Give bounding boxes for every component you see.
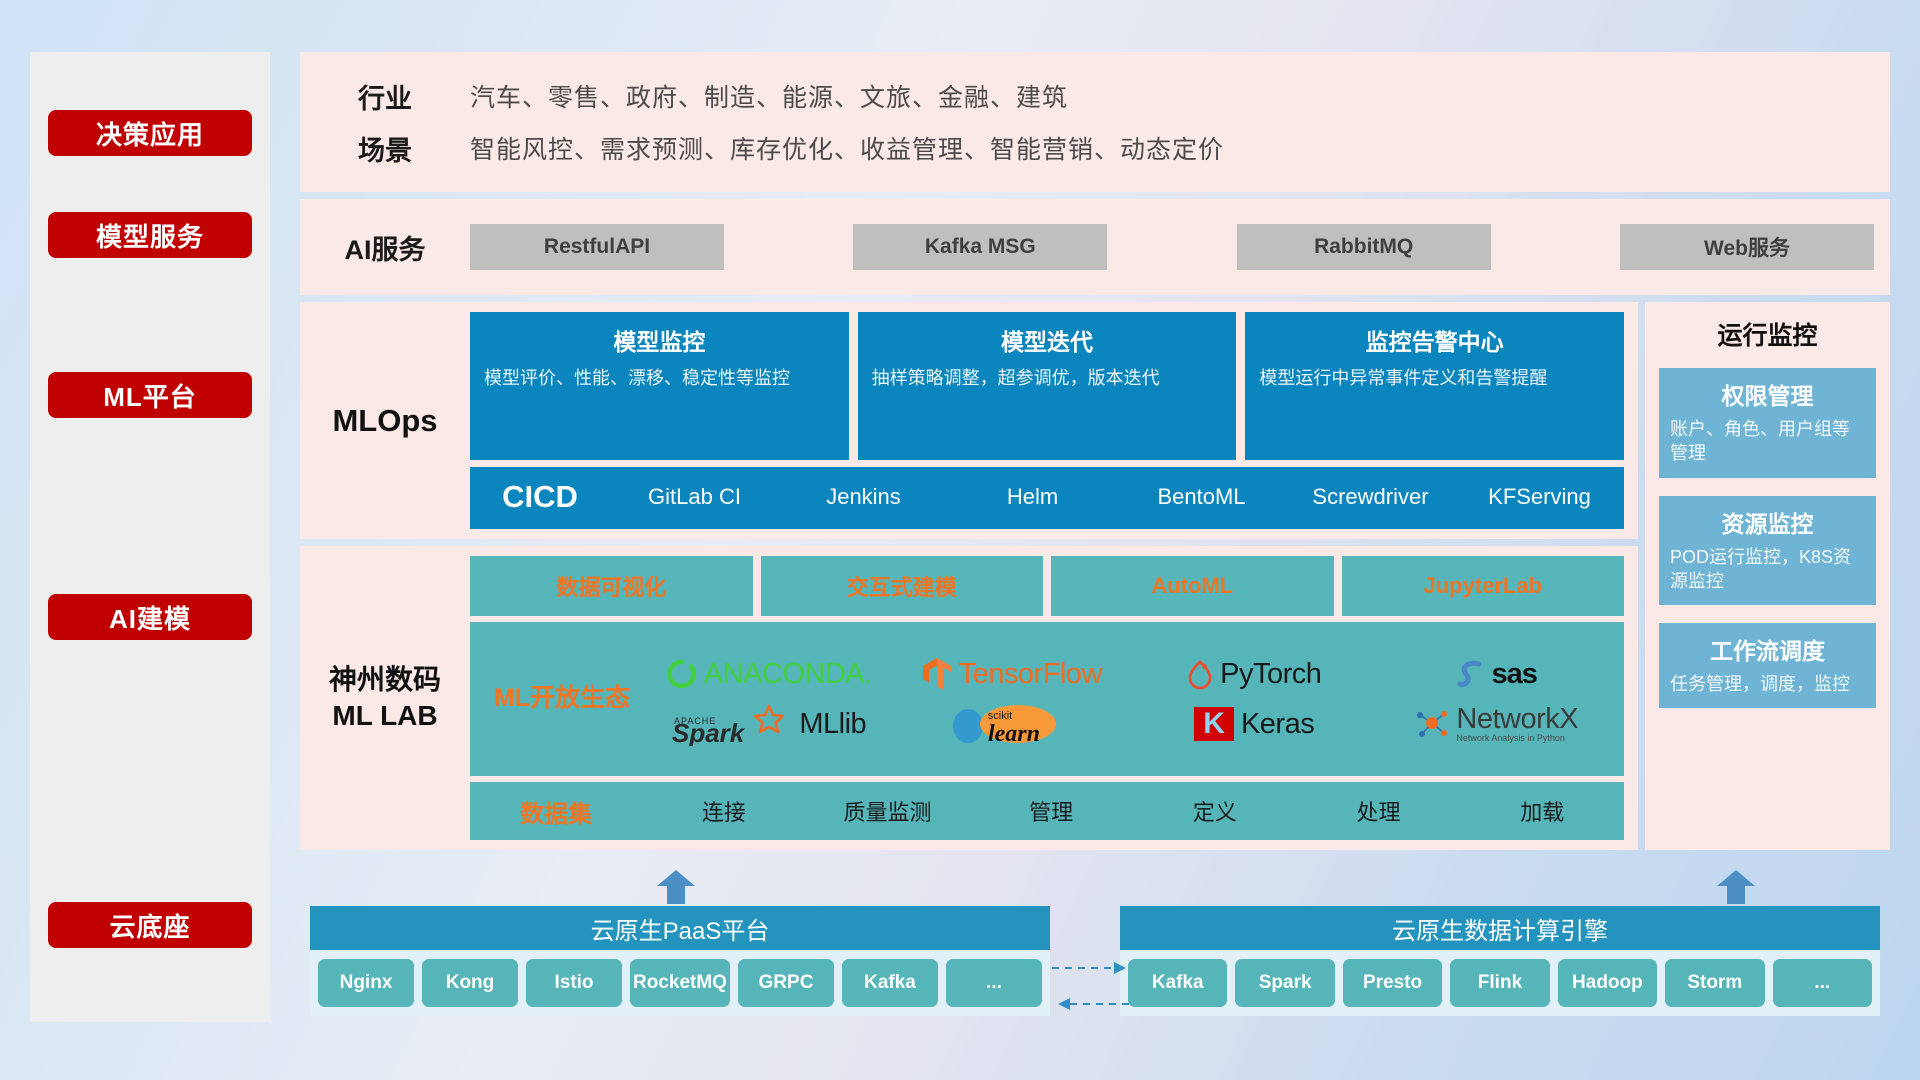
mlops-card-desc: 模型运行中异常事件定义和告警提醒 <box>1259 366 1610 392</box>
tensorflow-icon <box>922 657 952 691</box>
monitor-card-desc: 任务管理，调度，监控 <box>1670 672 1865 696</box>
scenario-values: 智能风控、需求预测、库存优化、收益管理、智能营销、动态定价 <box>470 130 1224 166</box>
monitor-card-workflow[interactable]: 工作流调度 任务管理，调度，监控 <box>1659 623 1876 708</box>
mlops-label: MLOps <box>300 403 470 439</box>
dataset-item-quality[interactable]: 质量监测 <box>806 795 970 827</box>
rail-item-ml-platform[interactable]: ML平台 <box>48 372 252 418</box>
cloud-chip-more[interactable]: ... <box>946 959 1042 1007</box>
cicd-item-screwdriver[interactable]: Screwdriver <box>1286 467 1455 509</box>
ai-service-label: AI服务 <box>300 228 470 267</box>
rail-item-model-service[interactable]: 模型服务 <box>48 212 252 258</box>
monitor-card-permission[interactable]: 权限管理 账户、角色、用户组等管理 <box>1659 368 1876 478</box>
cloud-chip-kafka[interactable]: Kafka <box>842 959 938 1007</box>
cloud-base-section: 云原生PaaS平台 Nginx Kong Istio RocketMQ GRPC… <box>300 888 1890 1028</box>
mlops-card-desc: 抽样策略调整，超参调优，版本迭代 <box>872 366 1223 392</box>
logo-pytorch-text: PyTorch <box>1220 658 1321 691</box>
cloud-chip-istio[interactable]: Istio <box>526 959 622 1007</box>
mlops-card-title: 模型迭代 <box>872 323 1223 357</box>
cloud-compute-group: 云原生数据计算引擎 Kafka Spark Presto Flink Hadoo… <box>1120 906 1880 1016</box>
rail-item-ai-modeling[interactable]: AI建模 <box>48 594 252 640</box>
cloud-chip-kong[interactable]: Kong <box>422 959 518 1007</box>
dataset-item-process[interactable]: 处理 <box>1297 795 1461 827</box>
industry-label: 行业 <box>300 77 470 116</box>
ai-service-rabbitmq[interactable]: RabbitMQ <box>1237 224 1491 270</box>
logo-tensorflow-text: TensorFlow <box>959 658 1102 691</box>
ml-lab-label-line2: ML LAB <box>300 698 470 734</box>
mlops-card-alert-center[interactable]: 监控告警中心 模型运行中异常事件定义和告警提醒 <box>1245 312 1624 460</box>
sas-icon <box>1457 659 1485 689</box>
cicd-label: CICD <box>470 467 610 515</box>
monitor-card-title: 权限管理 <box>1670 377 1865 411</box>
cloud-paas-group: 云原生PaaS平台 Nginx Kong Istio RocketMQ GRPC… <box>310 906 1050 1016</box>
logo-anaconda-text: ANACONDA. <box>704 658 872 691</box>
logo-networkx-subtext: Network Analysis in Python <box>1456 734 1578 743</box>
ai-modeling-content: 数据可视化 交互式建模 AutoML JupyterLab ML开放生态 <box>470 556 1624 840</box>
cloud-chip-spark[interactable]: Spark <box>1235 959 1334 1007</box>
cloud-paas-chips: Nginx Kong Istio RocketMQ GRPC Kafka ... <box>310 950 1050 1016</box>
cloud-chip-more[interactable]: ... <box>1773 959 1872 1007</box>
logo-sas-text: sas <box>1492 658 1537 691</box>
scenario-row: 场景 智能风控、需求预测、库存优化、收益管理、智能营销、动态定价 <box>300 122 1890 174</box>
cloud-chip-nginx[interactable]: Nginx <box>318 959 414 1007</box>
ml-lab-label: 神州数码 ML LAB <box>300 662 470 735</box>
left-rail: 决策应用 模型服务 ML平台 AI建模 云底座 <box>30 52 270 1022</box>
logo-tensorflow: TensorFlow <box>922 657 1102 691</box>
tool-jupyterlab[interactable]: JupyterLab <box>1342 556 1625 616</box>
logo-sas: sas <box>1457 658 1537 691</box>
runtime-monitor-column: 运行监控 权限管理 账户、角色、用户组等管理 资源监控 POD运行监控，K8S资… <box>1645 302 1890 850</box>
ml-lab-label-line1: 神州数码 <box>300 662 470 698</box>
logo-scikit-learn: scikit learn <box>952 699 1072 749</box>
mlops-card-model-monitoring[interactable]: 模型监控 模型评价、性能、漂移、稳定性等监控 <box>470 312 849 460</box>
mlops-card-desc: 模型评价、性能、漂移、稳定性等监控 <box>484 366 835 392</box>
mlops-card-model-iteration[interactable]: 模型迭代 抽样策略调整，超参调优，版本迭代 <box>858 312 1237 460</box>
cloud-compute-title: 云原生数据计算引擎 <box>1120 906 1880 950</box>
cloud-chip-hadoop[interactable]: Hadoop <box>1558 959 1657 1007</box>
logo-mllib-text: MLlib <box>799 708 866 741</box>
platform-and-monitor: MLOps 模型监控 模型评价、性能、漂移、稳定性等监控 模型迭代 抽样策略调整… <box>300 302 1890 850</box>
monitor-card-desc: POD运行监控，K8S资源监控 <box>1670 545 1865 594</box>
up-arrow-compute-icon <box>1715 870 1757 904</box>
modeling-tool-row: 数据可视化 交互式建模 AutoML JupyterLab <box>470 556 1624 616</box>
mlops-content: 模型监控 模型评价、性能、漂移、稳定性等监控 模型迭代 抽样策略调整，超参调优，… <box>470 312 1624 529</box>
cicd-bar: CICD GitLab CI Jenkins Helm BentoML Scre… <box>470 467 1624 529</box>
cloud-chip-storm[interactable]: Storm <box>1665 959 1764 1007</box>
cloud-chip-kafka[interactable]: Kafka <box>1128 959 1227 1007</box>
cicd-item-gitlab-ci[interactable]: GitLab CI <box>610 467 779 509</box>
up-arrow-paas-icon <box>655 870 697 904</box>
cloud-chip-flink[interactable]: Flink <box>1450 959 1549 1007</box>
cloud-compute-chips: Kafka Spark Presto Flink Hadoop Storm ..… <box>1120 950 1880 1016</box>
ai-modeling-band: 神州数码 ML LAB 数据可视化 交互式建模 AutoML JupyterLa… <box>300 546 1638 850</box>
keras-mark-icon: K <box>1194 707 1234 741</box>
ml-open-ecosystem-row: ML开放生态 ANACONDA. <box>470 622 1624 776</box>
runtime-monitor-title: 运行监控 <box>1659 316 1876 352</box>
logo-networkx: NetworkX Network Analysis in Python <box>1415 705 1578 743</box>
dataset-item-define[interactable]: 定义 <box>1133 795 1297 827</box>
ai-service-list: RestfulAPI Kafka MSG RabbitMQ Web服务 <box>470 224 1890 270</box>
cicd-item-bentoml[interactable]: BentoML <box>1117 467 1286 509</box>
mlops-card-title: 监控告警中心 <box>1259 323 1610 357</box>
cicd-item-helm[interactable]: Helm <box>948 467 1117 509</box>
decision-app-band: 行业 汽车、零售、政府、制造、能源、文旅、金融、建筑 场景 智能风控、需求预测、… <box>300 52 1890 192</box>
dataset-row: 数据集 连接 质量监测 管理 定义 处理 加载 <box>470 782 1624 840</box>
logo-keras-text: Keras <box>1241 708 1314 741</box>
dashed-connector-icon <box>1052 960 1132 1020</box>
tool-automl[interactable]: AutoML <box>1051 556 1334 616</box>
svg-text:Spark: Spark <box>672 718 746 746</box>
ecosystem-logo-grid: ANACONDA. TensorFlow <box>648 649 1618 749</box>
mlops-card-row: 模型监控 模型评价、性能、漂移、稳定性等监控 模型迭代 抽样策略调整，超参调优，… <box>470 312 1624 460</box>
cicd-item-jenkins[interactable]: Jenkins <box>779 467 948 509</box>
cloud-chip-rocketmq[interactable]: RocketMQ <box>630 959 730 1007</box>
rail-item-decision-app[interactable]: 决策应用 <box>48 110 252 156</box>
monitor-card-resource[interactable]: 资源监控 POD运行监控，K8S资源监控 <box>1659 496 1876 606</box>
tool-interactive-modeling[interactable]: 交互式建模 <box>761 556 1044 616</box>
spark-icon: APACHE Spark <box>672 702 792 746</box>
dataset-item-load[interactable]: 加载 <box>1460 795 1624 827</box>
logo-pytorch: PyTorch <box>1187 658 1321 691</box>
dataset-label: 数据集 <box>470 794 642 829</box>
rail-item-cloud-base[interactable]: 云底座 <box>48 902 252 948</box>
logo-keras: K Keras <box>1194 707 1314 741</box>
architecture-stack: 行业 汽车、零售、政府、制造、能源、文旅、金融、建筑 场景 智能风控、需求预测、… <box>300 52 1890 850</box>
platform-column: MLOps 模型监控 模型评价、性能、漂移、稳定性等监控 模型迭代 抽样策略调整… <box>300 302 1638 850</box>
cicd-item-kfserving[interactable]: KFServing <box>1455 467 1624 509</box>
logo-spark-mllib: APACHE Spark MLlib <box>672 702 866 746</box>
dataset-item-manage[interactable]: 管理 <box>969 795 1133 827</box>
ai-service-restfulapi[interactable]: RestfulAPI <box>470 224 724 270</box>
industry-values: 汽车、零售、政府、制造、能源、文旅、金融、建筑 <box>470 78 1068 114</box>
svg-text:learn: learn <box>988 721 1040 747</box>
scenario-label: 场景 <box>300 129 470 168</box>
networkx-icon <box>1415 708 1449 740</box>
monitor-card-title: 工作流调度 <box>1670 632 1865 666</box>
ml-open-ecosystem-label: ML开放生态 <box>476 683 648 714</box>
cloud-chip-grpc[interactable]: GRPC <box>738 959 834 1007</box>
mlops-band: MLOps 模型监控 模型评价、性能、漂移、稳定性等监控 模型迭代 抽样策略调整… <box>300 302 1638 539</box>
ai-service-web[interactable]: Web服务 <box>1620 224 1874 270</box>
tool-data-visualization[interactable]: 数据可视化 <box>470 556 753 616</box>
anaconda-icon <box>667 659 697 689</box>
industry-row: 行业 汽车、零售、政府、制造、能源、文旅、金融、建筑 <box>300 70 1890 122</box>
ai-service-band: AI服务 RestfulAPI Kafka MSG RabbitMQ Web服务 <box>300 199 1890 295</box>
monitor-card-title: 资源监控 <box>1670 505 1865 539</box>
logo-networkx-text: NetworkX <box>1456 705 1578 734</box>
pytorch-icon <box>1187 658 1213 690</box>
dataset-item-connect[interactable]: 连接 <box>642 795 806 827</box>
cloud-paas-title: 云原生PaaS平台 <box>310 906 1050 950</box>
cloud-chip-presto[interactable]: Presto <box>1343 959 1442 1007</box>
ai-service-kafka-msg[interactable]: Kafka MSG <box>853 224 1107 270</box>
monitor-card-desc: 账户、角色、用户组等管理 <box>1670 417 1865 466</box>
logo-anaconda: ANACONDA. <box>667 658 872 691</box>
scikit-learn-icon: scikit learn <box>952 699 1072 749</box>
mlops-card-title: 模型监控 <box>484 323 835 357</box>
